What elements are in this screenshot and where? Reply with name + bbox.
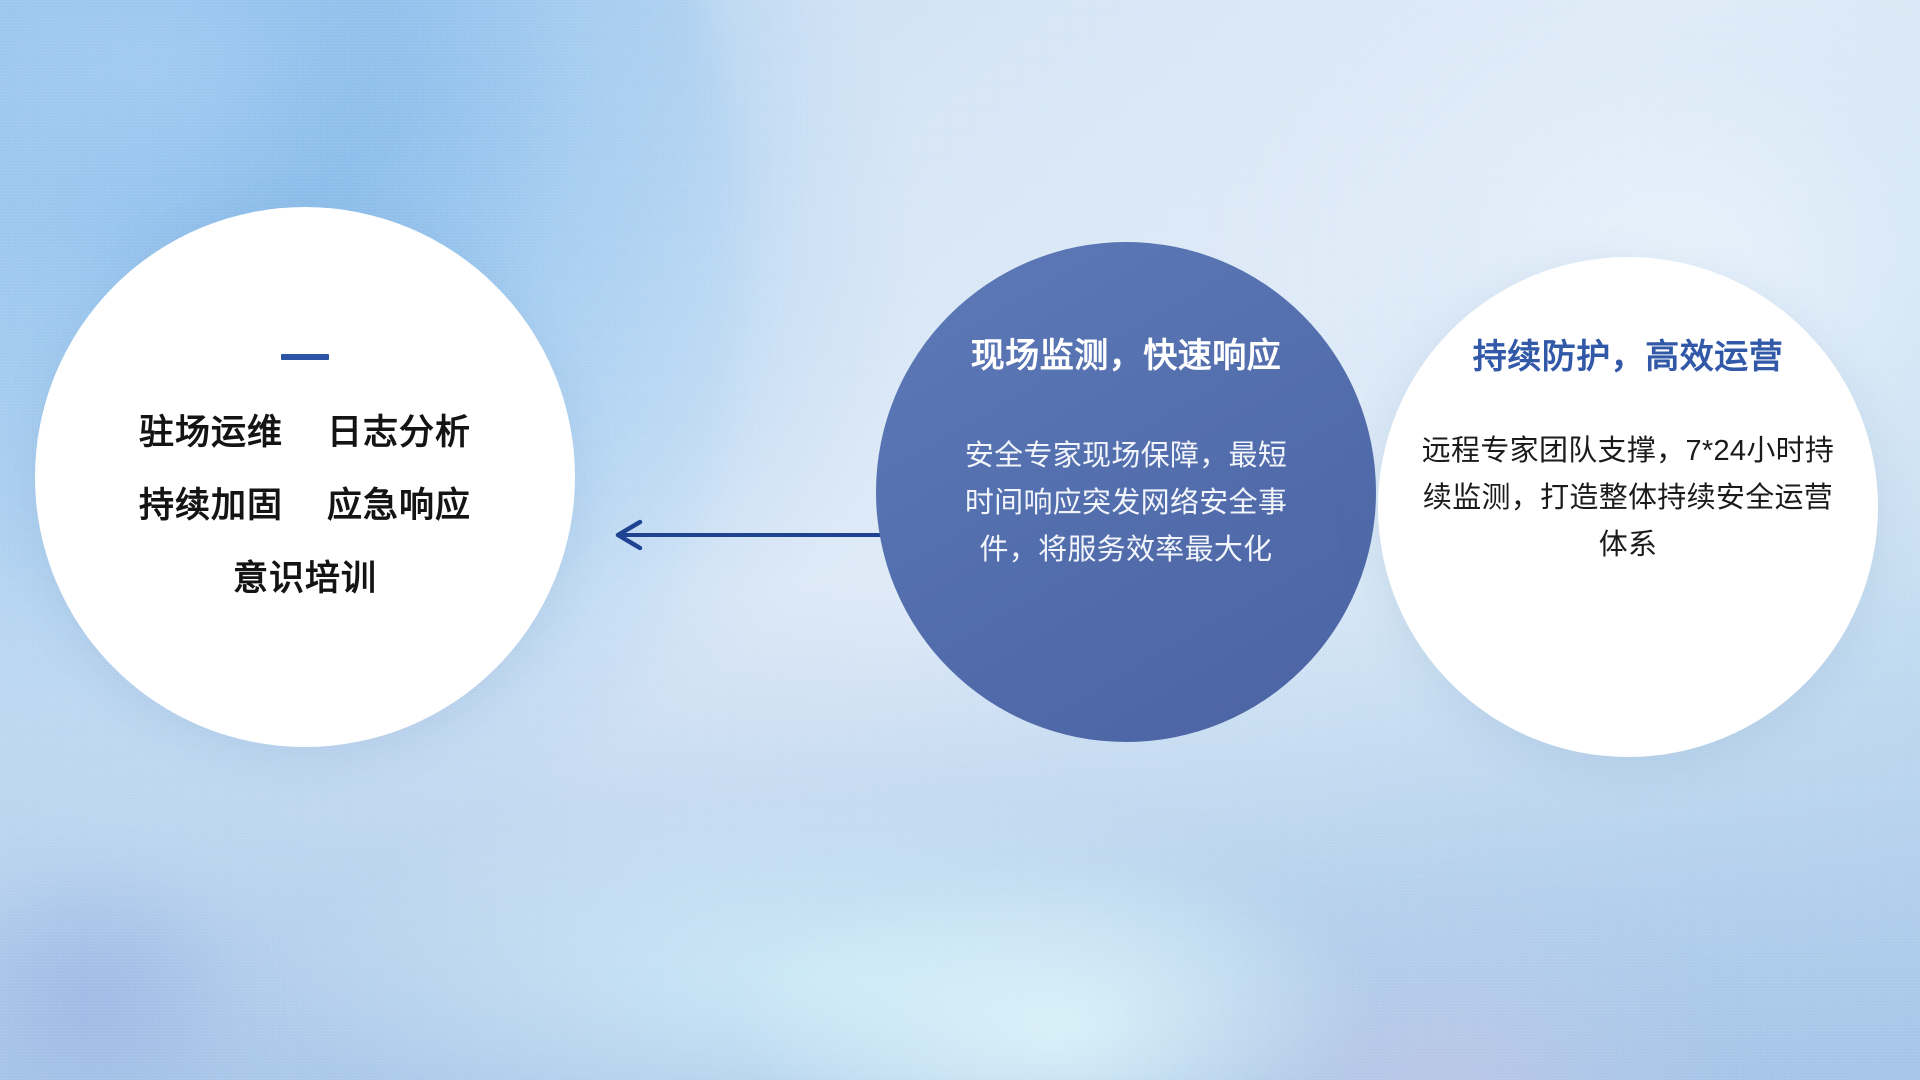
keyword-onsite-ops: 驻场运维 [139,404,283,455]
right-card-body: 远程专家团队支撑，7*24小时持续监测，打造整体持续安全运营体系 [1418,428,1838,569]
keyword-row: 意识培训 [233,550,377,601]
keyword-rows: 驻场运维 日志分析 持续加固 应急响应 意识培训 [139,404,471,601]
left-keyword-circle: 驻场运维 日志分析 持续加固 应急响应 意识培训 [35,207,575,747]
middle-card-body: 安全专家现场保障，最短时间响应突发网络安全事件，将服务效率最大化 [961,433,1291,574]
keyword-log-analysis: 日志分析 [327,404,471,455]
keyword-continuous-hardening: 持续加固 [139,477,283,528]
middle-onsite-monitoring-circle: 现场监测，快速响应 安全专家现场保障，最短时间响应突发网络安全事件，将服务效率最… [876,242,1376,742]
flow-arrow-left-icon [596,518,886,552]
accent-dash-divider [281,354,329,360]
right-card-title: 持续防护，高效运营 [1473,329,1784,378]
keyword-emergency-response: 应急响应 [327,477,471,528]
right-continuous-protection-circle: 持续防护，高效运营 远程专家团队支撑，7*24小时持续监测，打造整体持续安全运营… [1378,257,1878,757]
diagram-stage: 驻场运维 日志分析 持续加固 应急响应 意识培训 现场监测，快速响应 安全专家现… [0,0,1920,1080]
keyword-row: 驻场运维 日志分析 [139,404,471,455]
middle-card-title: 现场监测，快速响应 [971,328,1282,377]
keyword-awareness-training: 意识培训 [233,550,377,601]
keyword-row: 持续加固 应急响应 [139,477,471,528]
